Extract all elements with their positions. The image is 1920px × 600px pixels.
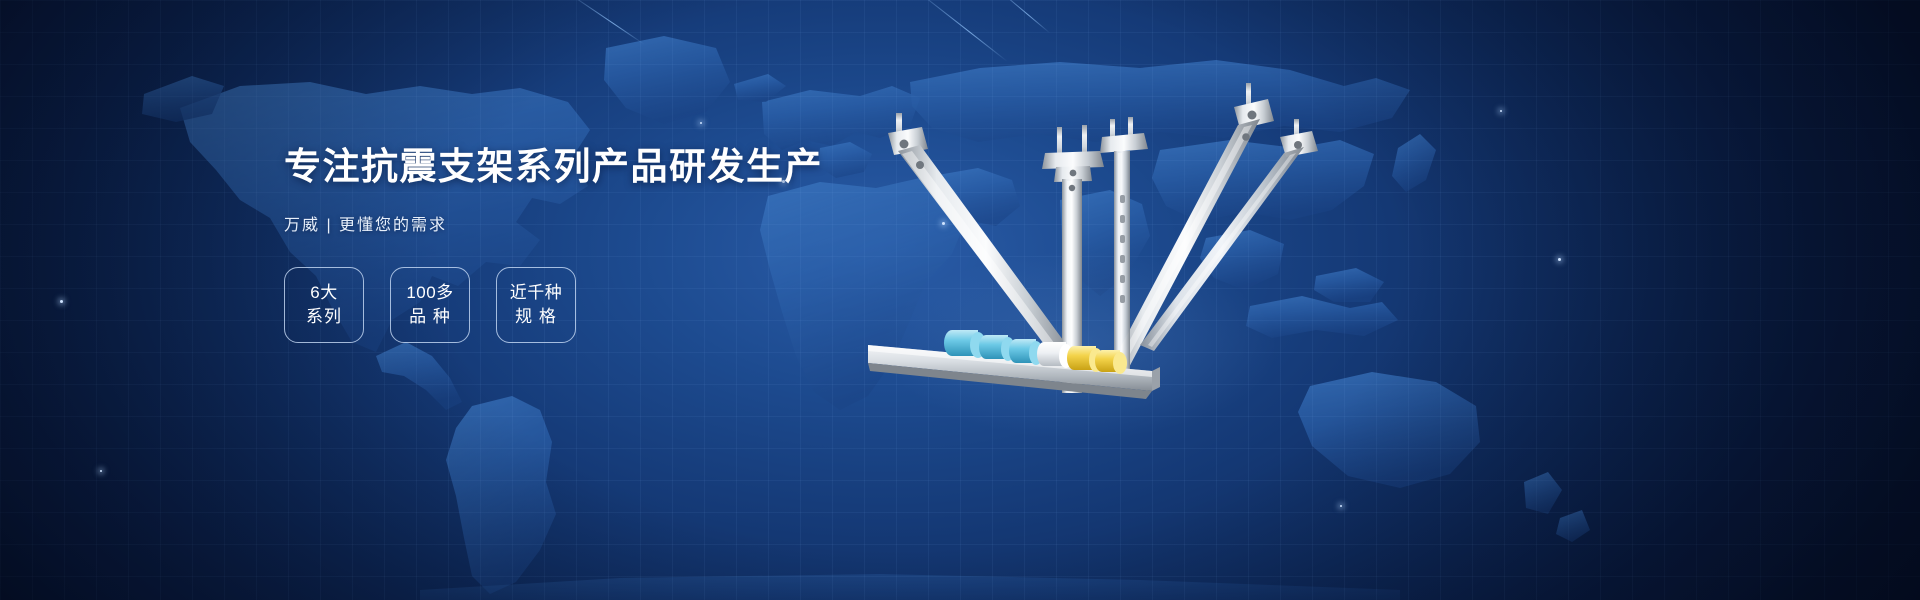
product-glow [880,250,1280,440]
badge-line-2: 规 格 [515,305,557,328]
light-streak [568,0,645,45]
sparkle-icon [1340,505,1342,507]
badge-line-2: 系列 [306,305,342,328]
sparkle-icon [700,122,702,124]
badge-list: 6大 系列 100多 品 种 近千种 规 格 [284,267,804,343]
product-image [860,55,1330,415]
badge-item[interactable]: 100多 品 种 [390,267,470,343]
hero-banner: 专注抗震支架系列产品研发生产 万威 | 更懂您的需求 6大 系列 100多 品 … [0,0,1920,600]
sparkle-icon [1500,110,1502,112]
sparkle-icon [942,222,945,225]
light-streak [996,0,1050,33]
banner-subtitle: 万威 | 更懂您的需求 [284,211,804,235]
badge-line-1: 6大 [310,281,337,304]
badge-line-2: 品 种 [409,305,451,328]
badge-line-1: 100多 [406,281,453,304]
banner-text-block: 专注抗震支架系列产品研发生产 万威 | 更懂您的需求 6大 系列 100多 品 … [284,146,804,343]
banner-headline: 专注抗震支架系列产品研发生产 [284,146,804,189]
sparkle-icon [60,300,63,303]
badge-item[interactable]: 6大 系列 [284,267,364,343]
sparkle-icon [100,470,102,472]
badge-item[interactable]: 近千种 规 格 [496,267,576,343]
sparkle-icon [1558,258,1561,261]
light-streak [912,0,1007,62]
badge-line-1: 近千种 [510,281,563,304]
